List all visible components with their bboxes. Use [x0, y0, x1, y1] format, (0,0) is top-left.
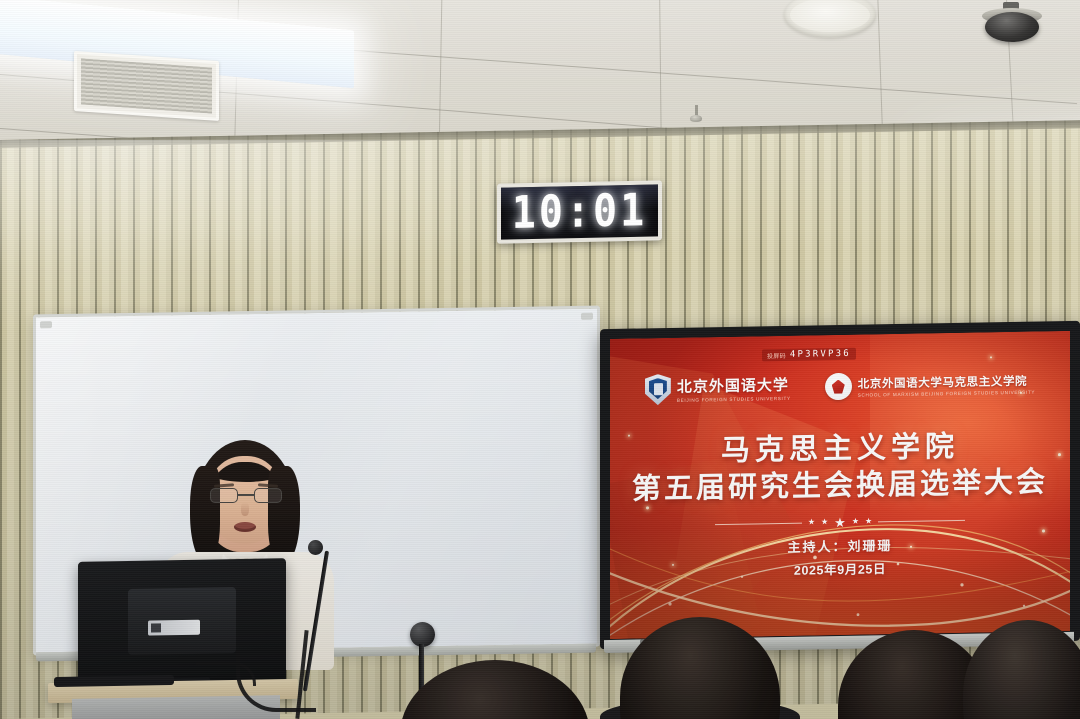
- led-conference-display[interactable]: 投屏码 4P3RVP36 北京外国语大学 BEIJING FOREIGN STU…: [600, 321, 1080, 649]
- bfsu-logo-cn: 北京外国语大学: [677, 374, 791, 397]
- slide-host: 主持人：刘珊珊: [610, 532, 1070, 559]
- photo-scene: 10:01: [0, 0, 1080, 719]
- wall-clock: 10:01: [497, 180, 662, 243]
- star-icon: ★: [808, 519, 815, 527]
- monitor-base: [54, 675, 174, 687]
- marxism-logo-cn: 北京外国语大学马克思主义学院: [858, 372, 1035, 391]
- slide-title-line-2: 第五届研究生会换届选举大会: [610, 464, 1070, 507]
- clock-time: 10:01: [512, 188, 647, 236]
- school-of-marxism-logo: 北京外国语大学马克思主义学院 SCHOOL OF MARXISM BEIJING…: [825, 370, 1035, 401]
- star-icon: ★: [821, 518, 828, 526]
- bfsu-logo-en: BEIJING FOREIGN STUDIES UNIVERSITY: [677, 396, 791, 403]
- bfsu-logo: 北京外国语大学 BEIJING FOREIGN STUDIES UNIVERSI…: [645, 372, 791, 406]
- screencast-label: 投屏码: [767, 350, 786, 359]
- dome-security-camera-icon: [985, 8, 1039, 42]
- slide-title-line-1: 马克思主义学院: [610, 427, 1070, 470]
- hvac-vent-icon: [74, 51, 219, 121]
- screencast-code: 投屏码 4P3RVP36: [762, 348, 856, 362]
- star-divider: ★ ★ ★ ★ ★: [715, 514, 965, 531]
- shield-icon: [645, 374, 671, 405]
- screencast-value: 4P3RVP36: [790, 349, 851, 360]
- ceiling-speaker-icon: [784, 0, 876, 38]
- star-icon: ★: [852, 518, 859, 526]
- star-icon: ★: [834, 516, 846, 529]
- star-icon: ★: [865, 518, 872, 526]
- podium-microphone: [288, 536, 348, 686]
- fire-sprinkler-icon: [690, 105, 702, 123]
- monitor-brand-label: [148, 620, 200, 636]
- slide-title-block: 马克思主义学院 第五届研究生会换届选举大会 ★ ★ ★ ★ ★ 主持人：刘珊珊 …: [610, 427, 1070, 582]
- marxism-emblem-icon: [825, 373, 852, 400]
- presentation-slide: 投屏码 4P3RVP36 北京外国语大学 BEIJING FOREIGN STU…: [610, 331, 1070, 639]
- eyeglasses-icon: [210, 488, 282, 503]
